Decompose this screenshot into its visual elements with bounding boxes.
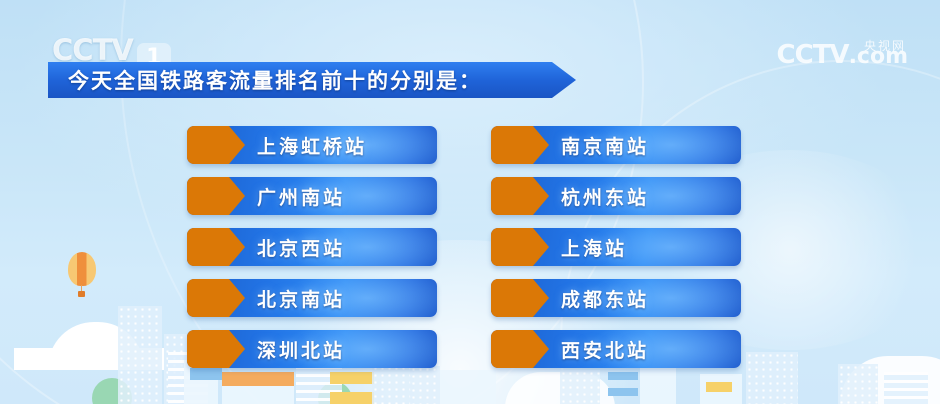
chevron-right-icon — [491, 126, 549, 164]
chevron-right-icon — [187, 330, 245, 368]
station-name: 南京南站 — [561, 132, 649, 159]
station-name: 广州南站 — [257, 183, 345, 210]
station-name: 杭州东站 — [561, 183, 649, 210]
chevron-right-icon — [491, 330, 549, 368]
chevron-right-icon — [187, 228, 245, 266]
chevron-right-icon — [187, 126, 245, 164]
station-name: 上海虹桥站 — [257, 132, 367, 159]
station-name: 深圳北站 — [257, 336, 345, 363]
ranking-list: 上海虹桥站 广州南站 北京西站 北京南站 深圳北站 南京南站 — [0, 0, 940, 404]
ranking-column-left: 上海虹桥站 广州南站 北京西站 北京南站 深圳北站 — [187, 126, 437, 381]
list-item[interactable]: 成都东站 — [491, 279, 741, 317]
station-name: 北京西站 — [257, 234, 345, 261]
station-name: 上海站 — [561, 234, 627, 261]
list-item[interactable]: 南京南站 — [491, 126, 741, 164]
station-name: 成都东站 — [561, 285, 649, 312]
chevron-right-icon — [491, 279, 549, 317]
list-item[interactable]: 北京南站 — [187, 279, 437, 317]
list-item[interactable]: 北京西站 — [187, 228, 437, 266]
list-item[interactable]: 深圳北站 — [187, 330, 437, 368]
list-item[interactable]: 杭州东站 — [491, 177, 741, 215]
list-item[interactable]: 上海站 — [491, 228, 741, 266]
station-name: 北京南站 — [257, 285, 345, 312]
chevron-right-icon — [187, 177, 245, 215]
chevron-right-icon — [187, 279, 245, 317]
station-name: 西安北站 — [561, 336, 649, 363]
list-item[interactable]: 上海虹桥站 — [187, 126, 437, 164]
broadcast-graphic-slide: CCTV1 央视网 CCTV.com 今天全国铁路客流量排名前十的分别是： 上海… — [0, 0, 940, 404]
list-item[interactable]: 西安北站 — [491, 330, 741, 368]
ranking-column-right: 南京南站 杭州东站 上海站 成都东站 西安北站 — [491, 126, 741, 381]
chevron-right-icon — [491, 228, 549, 266]
list-item[interactable]: 广州南站 — [187, 177, 437, 215]
chevron-right-icon — [491, 177, 549, 215]
